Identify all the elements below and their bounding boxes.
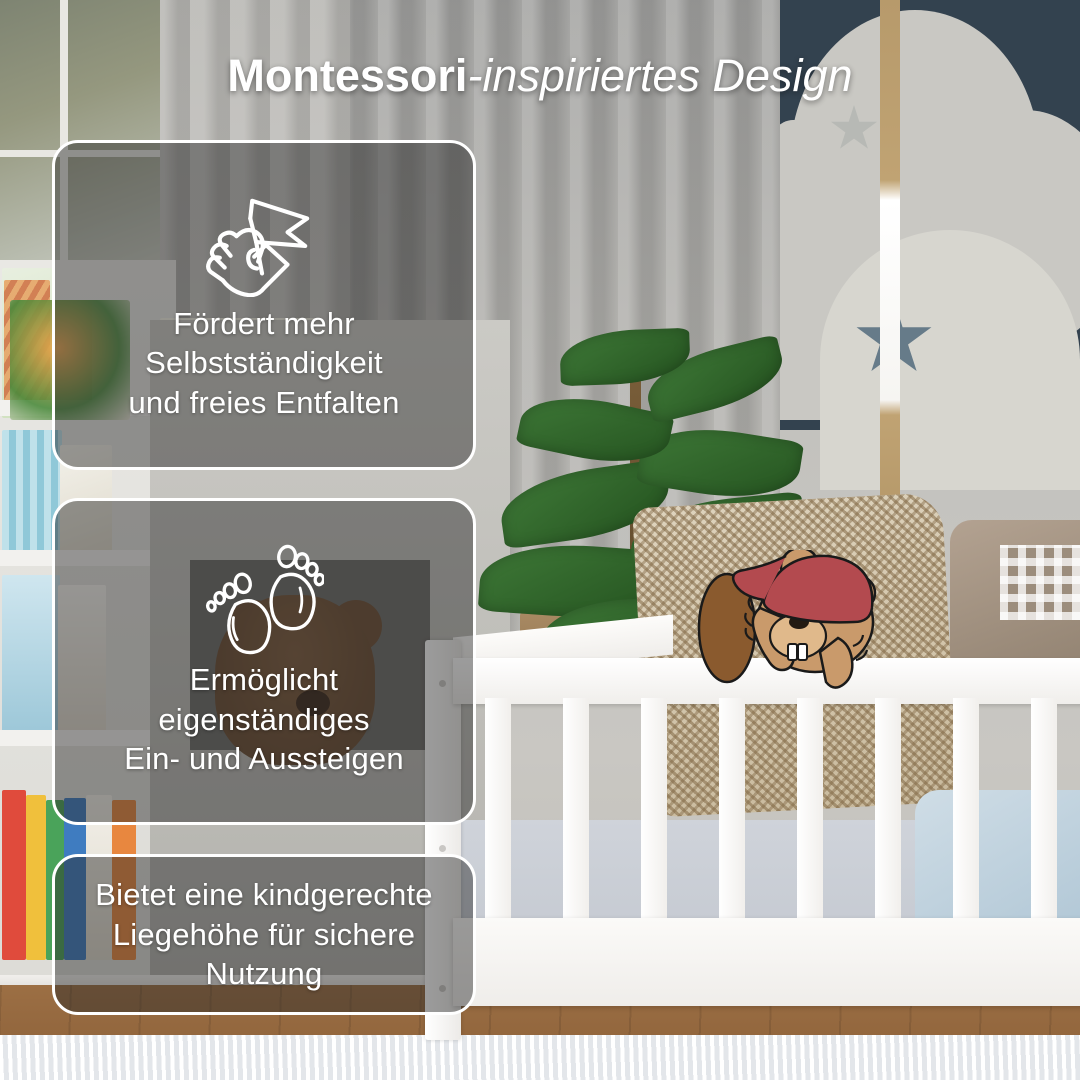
feature-card-2[interactable]: Ermöglicht eigenständiges Ein- und Ausst…	[52, 498, 476, 825]
product-feature-graphic: Montessori-inspiriertes Design Fördert m…	[0, 0, 1080, 1080]
rail-slat	[563, 698, 589, 924]
feature-card-3[interactable]: Bietet eine kindgerechte Liegehöhe für s…	[52, 854, 476, 1015]
feature-card-1-line-2: Selbstständigkeit	[128, 343, 399, 382]
rail-bottom-beam	[453, 918, 1080, 1006]
feature-card-2-line-2: eigenständiges	[124, 700, 404, 739]
rail-slat	[1031, 698, 1057, 924]
feature-card-2-line-3: Ein- und Aussteigen	[124, 739, 404, 778]
book	[2, 790, 26, 960]
feature-card-3-line-1: Bietet eine kindgerechte	[95, 875, 432, 914]
rail-slat	[719, 698, 745, 924]
checked-pillow	[1000, 545, 1080, 620]
beaver-mascot	[690, 550, 880, 710]
feature-card-1-line-3: und freies Entfalten	[128, 383, 399, 422]
feature-card-list: Fördert mehr Selbstständigkeit und freie…	[52, 140, 476, 1015]
rail-slat	[875, 698, 901, 924]
feature-card-1-text: Fördert mehr Selbstständigkeit und freie…	[110, 304, 417, 422]
rail-slat	[485, 698, 511, 924]
feature-card-1[interactable]: Fördert mehr Selbstständigkeit und freie…	[52, 140, 476, 470]
rail-slat	[953, 698, 979, 924]
title-bold: Montessori	[227, 50, 467, 101]
page-title: Montessori-inspiriertes Design	[0, 50, 1080, 102]
title-italic: -inspiriertes Design	[467, 50, 852, 101]
book	[26, 795, 46, 960]
rail-slat	[641, 698, 667, 924]
feature-card-3-line-2: Liegehöhe für sichere	[95, 915, 432, 954]
feature-card-3-line-3: Nutzung	[95, 954, 432, 993]
shaggy-rug	[0, 1035, 1080, 1080]
baby-footprints-icon	[204, 544, 324, 654]
mural-cloud-4	[820, 230, 1080, 490]
feature-card-2-text: Ermöglicht eigenständiges Ein- und Ausst…	[106, 660, 422, 778]
feature-card-2-line-1: Ermöglicht	[124, 660, 404, 699]
feature-card-1-line-1: Fördert mehr	[128, 304, 399, 343]
hand-holding-flag-icon	[204, 188, 324, 298]
feature-card-3-text: Bietet eine kindgerechte Liegehöhe für s…	[77, 875, 450, 993]
rail-slat	[797, 698, 823, 924]
